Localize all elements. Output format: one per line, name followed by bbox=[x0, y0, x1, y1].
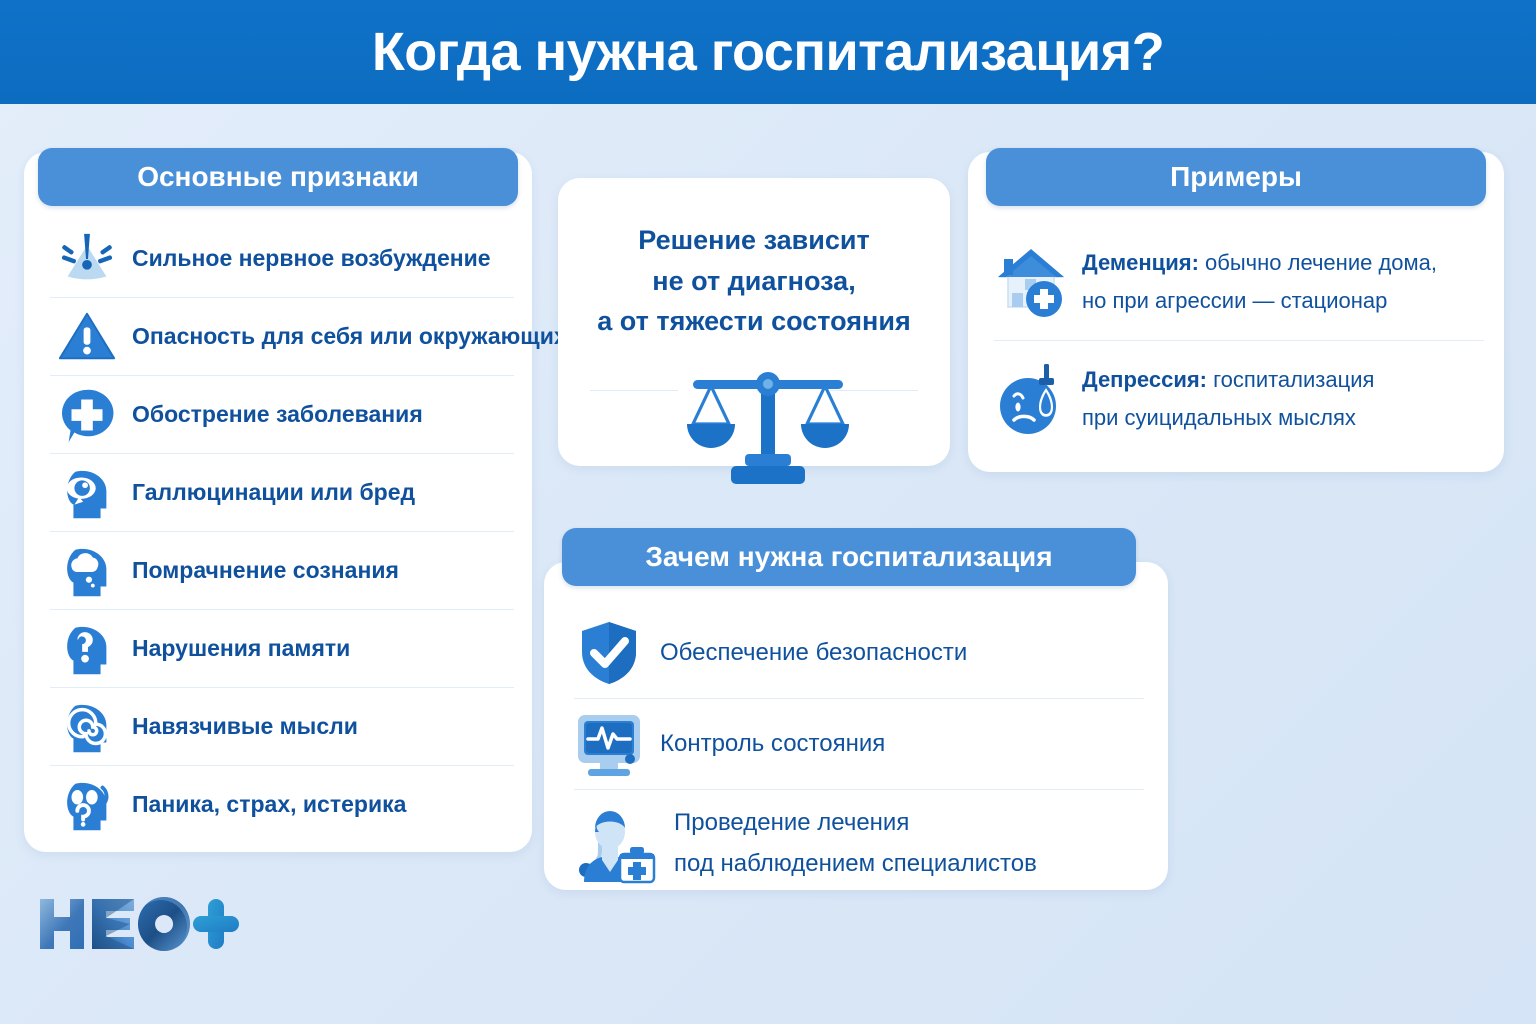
list-item-label: Нарушения памяти bbox=[132, 635, 350, 661]
list-item[interactable]: Паника, страх, истерика bbox=[50, 766, 514, 843]
doctor-bag-icon bbox=[574, 802, 658, 886]
list-item[interactable]: Депрессия: госпитализация при суицидальн… bbox=[994, 341, 1484, 457]
example-rest: госпитализация bbox=[1207, 367, 1374, 392]
signs-title: Основные признаки bbox=[137, 161, 419, 193]
why-title: Зачем нужна госпитализация bbox=[645, 541, 1052, 573]
example-line2: при суицидальных мыслях bbox=[1082, 405, 1356, 430]
example-rest: обычно лечение дома, bbox=[1199, 250, 1437, 275]
examples-list: Деменция: обычно лечение дома, но при аг… bbox=[994, 224, 1484, 457]
main-signs-card: Сильное нервное возбуждение Опасность дл… bbox=[24, 152, 532, 852]
page-header: Когда нужна госпитализация? bbox=[0, 0, 1536, 104]
quote-line-1: Решение зависит bbox=[558, 220, 950, 261]
list-item[interactable]: Сильное нервное возбуждение bbox=[50, 220, 514, 298]
head-spiral-icon bbox=[56, 696, 118, 758]
signs-header-pill: Основные признаки bbox=[38, 148, 518, 206]
warning-triangle-icon bbox=[56, 306, 118, 368]
why-label: Обеспечение безопасности bbox=[660, 633, 967, 674]
examples-title: Примеры bbox=[1170, 161, 1302, 193]
example-lead: Деменция: bbox=[1082, 250, 1199, 275]
why-label: Контроль состояния bbox=[660, 724, 885, 765]
why-list: Обеспечение безопасности Контроль состоя… bbox=[574, 608, 1144, 898]
list-item[interactable]: Обострение заболевания bbox=[50, 376, 514, 454]
list-item[interactable]: Деменция: обычно лечение дома, но при аг… bbox=[994, 224, 1484, 341]
list-item-label: Помрачнение сознания bbox=[132, 557, 399, 583]
page-title: Когда нужна госпитализация? bbox=[372, 21, 1164, 83]
list-item[interactable]: Галлюцинации или бред bbox=[50, 454, 514, 532]
head-cloud-icon bbox=[56, 540, 118, 602]
list-item[interactable]: Нарушения памяти bbox=[50, 610, 514, 688]
sad-face-teardrop-icon bbox=[994, 362, 1068, 436]
list-item-label: Опасность для себя или окружающих bbox=[132, 323, 567, 349]
head-panic-icon bbox=[56, 774, 118, 836]
neo-plus-logo bbox=[36, 893, 246, 955]
list-item-label: Сильное нервное возбуждение bbox=[132, 245, 491, 271]
list-item-label: Паника, страх, истерика bbox=[132, 791, 406, 817]
signs-list: Сильное нервное возбуждение Опасность дл… bbox=[50, 220, 514, 843]
house-medical-icon bbox=[994, 245, 1068, 319]
why-hospitalization-card: Обеспечение безопасности Контроль состоя… bbox=[544, 562, 1168, 890]
quote-line-2: не от диагноза, bbox=[558, 261, 950, 302]
list-item[interactable]: Контроль состояния bbox=[574, 699, 1144, 790]
quote-divider-left bbox=[590, 390, 678, 391]
speech-bubble-cross-icon bbox=[56, 384, 118, 446]
why-line-1: Проведение лечения bbox=[674, 809, 909, 836]
list-item[interactable]: Обеспечение безопасности bbox=[574, 608, 1144, 699]
shield-check-icon bbox=[574, 618, 644, 688]
why-header-pill: Зачем нужна госпитализация bbox=[562, 528, 1136, 586]
list-item[interactable]: Опасность для себя или окружающих bbox=[50, 298, 514, 376]
example-lead: Депрессия: bbox=[1082, 367, 1207, 392]
list-item-label: Навязчивые мысли bbox=[132, 713, 358, 739]
list-item-label: Обострение заболевания bbox=[132, 401, 423, 427]
quote-line-3: а от тяжести состояния bbox=[558, 301, 950, 342]
quote-block: Решение зависит не от диагноза, а от тяж… bbox=[558, 220, 950, 342]
vital-monitor-icon bbox=[574, 709, 644, 779]
scales-of-justice-icon bbox=[673, 362, 863, 492]
why-line-2: под наблюдением специалистов bbox=[674, 850, 1037, 877]
list-item[interactable]: Помрачнение сознания bbox=[50, 532, 514, 610]
example-text: Деменция: обычно лечение дома, но при аг… bbox=[1082, 244, 1437, 321]
examples-header-pill: Примеры bbox=[986, 148, 1486, 206]
head-eye-icon bbox=[56, 462, 118, 524]
list-item[interactable]: Проведение лечения под наблюдением специ… bbox=[574, 790, 1144, 898]
why-label: Проведение лечения под наблюдением специ… bbox=[674, 803, 1037, 885]
head-question-icon bbox=[56, 618, 118, 680]
example-text: Депрессия: госпитализация при суицидальн… bbox=[1082, 361, 1374, 438]
list-item-label: Галлюцинации или бред bbox=[132, 479, 415, 505]
list-item[interactable]: Навязчивые мысли bbox=[50, 688, 514, 766]
example-line2: но при агрессии — стационар bbox=[1082, 288, 1387, 313]
exclamation-burst-icon bbox=[56, 228, 118, 290]
